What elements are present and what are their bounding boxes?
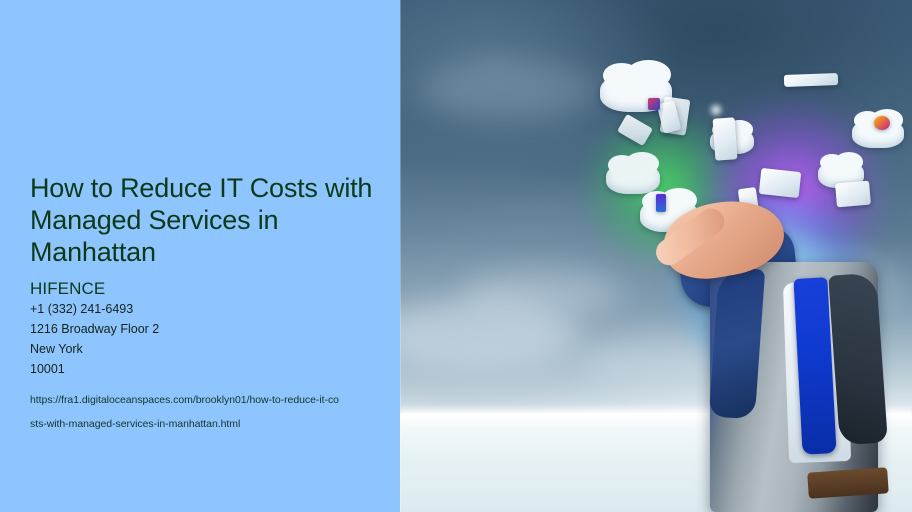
belt	[807, 467, 889, 499]
hero-image	[400, 0, 912, 512]
tablet-icon	[713, 117, 738, 160]
businessman-figure	[658, 170, 912, 512]
panel-divider	[400, 0, 401, 512]
app-chip-icon	[874, 116, 890, 130]
page-title: How to Reduce IT Costs with Managed Serv…	[30, 172, 392, 268]
promo-card: How to Reduce IT Costs with Managed Serv…	[0, 0, 912, 512]
city: New York	[30, 339, 390, 359]
cloud-wisp	[420, 60, 600, 120]
url-line-1: https://fra1.digitaloceanspaces.com/broo…	[30, 388, 370, 412]
monitor-icon	[784, 73, 838, 87]
contact-details: +1 (332) 241-6493 1216 Broadway Floor 2 …	[30, 299, 390, 379]
cloud-wisp	[460, 270, 620, 318]
source-url[interactable]: https://fra1.digitaloceanspaces.com/broo…	[30, 388, 370, 436]
app-chip-icon	[648, 98, 660, 110]
text-block: How to Reduce IT Costs with Managed Serv…	[30, 172, 390, 436]
brand-name: HIFENCE	[30, 279, 390, 299]
phone-number: +1 (332) 241-6493	[30, 299, 390, 319]
pointing-finger	[651, 203, 729, 270]
left-text-panel: How to Reduce IT Costs with Managed Serv…	[0, 0, 400, 512]
cloud-icon	[606, 162, 660, 194]
sparkle-icon	[708, 102, 724, 118]
postal-code: 10001	[30, 359, 390, 379]
url-line-2: sts-with-managed-services-in-manhattan.h…	[30, 412, 370, 436]
street-address: 1216 Broadway Floor 2	[30, 319, 390, 339]
